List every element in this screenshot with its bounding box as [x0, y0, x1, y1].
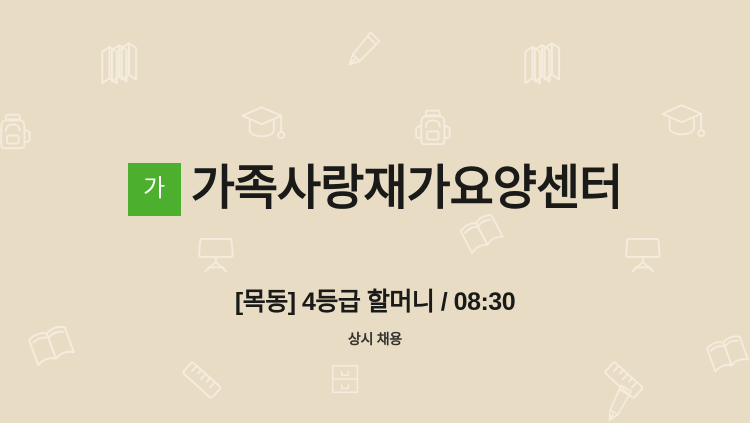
company-name-title: 가족사랑재가요양센터	[191, 165, 623, 213]
job-position-subtitle: [목동] 4등급 할머니 / 08:30	[235, 290, 515, 315]
banner-content: 가 가족사랑재가요양센터 [목동] 4등급 할머니 / 08:30 상시 채용	[0, 0, 750, 423]
company-header: 가 가족사랑재가요양센터	[128, 133, 623, 245]
job-posting-banner: 가 가족사랑재가요양센터 [목동] 4등급 할머니 / 08:30 상시 채용	[0, 0, 750, 423]
company-logo-badge: 가	[128, 163, 181, 216]
recruitment-status-tagline: 상시 채용	[348, 332, 402, 346]
company-logo-initial: 가	[143, 177, 165, 201]
